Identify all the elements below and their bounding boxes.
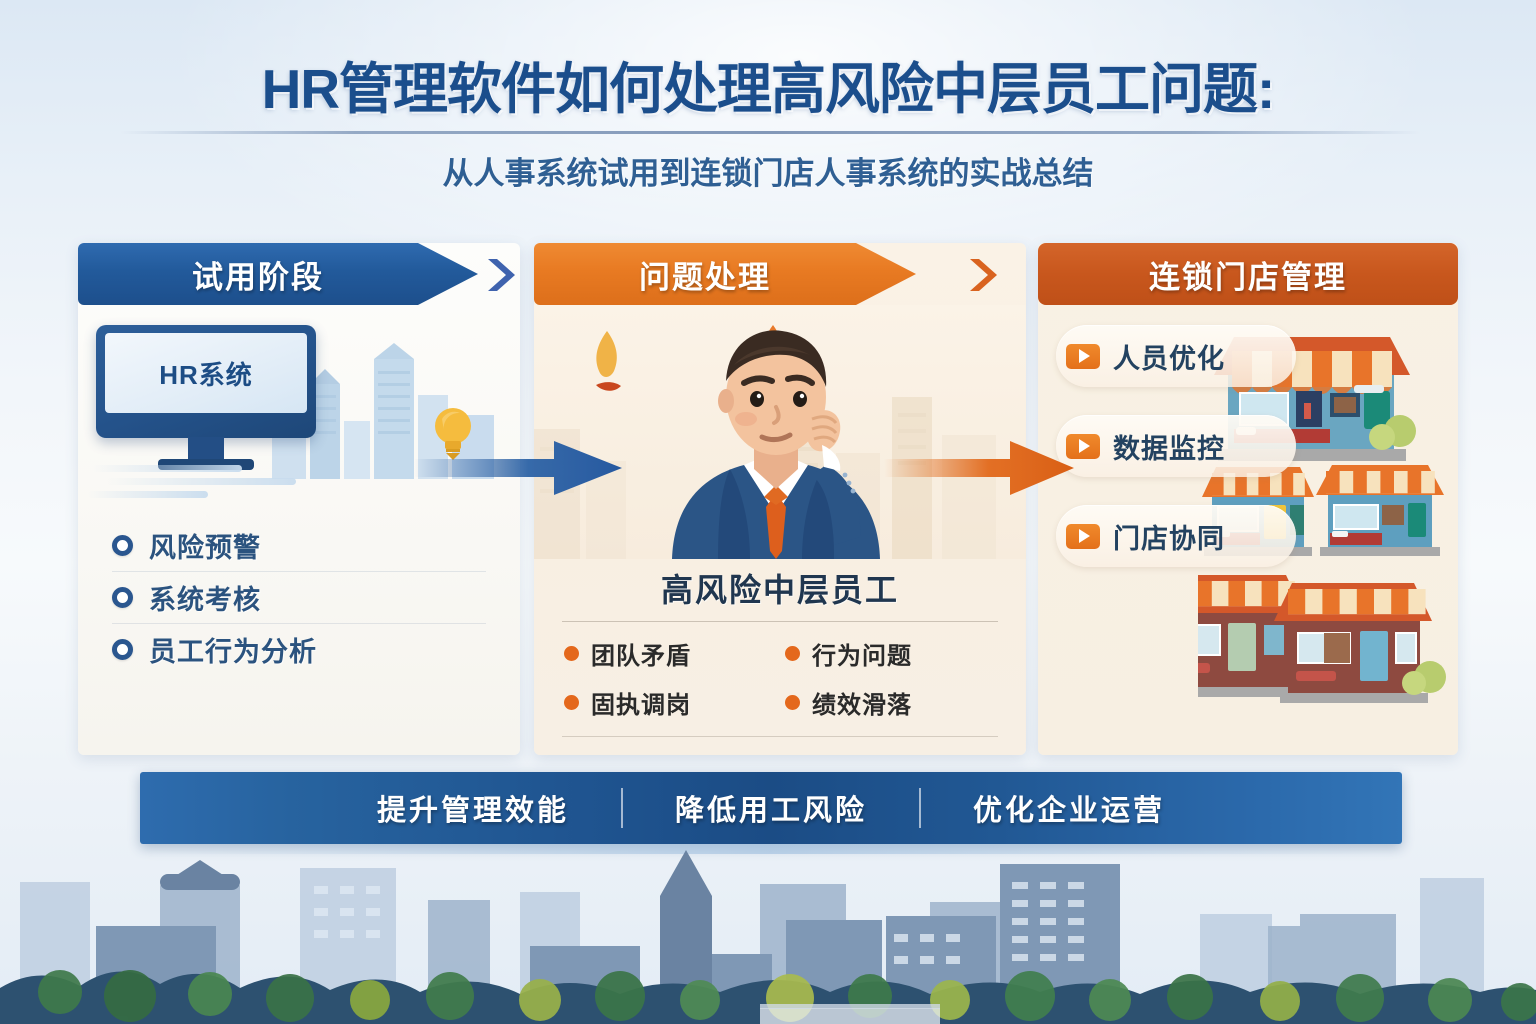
- play-icon: [1066, 344, 1100, 369]
- list-item-label: 团队矛盾: [591, 636, 691, 671]
- bullet-ring-icon: [112, 535, 133, 556]
- panel-3-banner[interactable]: 连锁门店管理: [1038, 243, 1458, 305]
- list-item[interactable]: 数据监控: [1056, 415, 1296, 477]
- play-icon: [1066, 524, 1100, 549]
- panel-2-banner[interactable]: 问题处理: [534, 243, 916, 305]
- bullet-ring-icon: [112, 587, 133, 608]
- panel-2-list: 团队矛盾 行为问题 固执调岗 绩效滑落: [534, 636, 1026, 720]
- monitor-frame: HR系统: [96, 325, 316, 438]
- panel-1-banner-label: 试用阶段: [192, 252, 324, 297]
- list-item-label: 绩效滑落: [812, 685, 912, 720]
- list-item[interactable]: 门店协同: [1056, 505, 1296, 567]
- bullet-dot-icon: [785, 646, 800, 661]
- panel-3-content: 人员优化 数据监控 门店协同: [1038, 305, 1458, 755]
- list-item-label: 风险预警: [149, 526, 261, 565]
- list-item[interactable]: 绩效滑落: [785, 685, 996, 720]
- panel-problem-handling: 高风险中层员工 团队矛盾 行为问题 固执调岗: [534, 243, 1026, 755]
- worried-employee-illustration: [626, 315, 926, 559]
- blue-arrow-right-icon: [414, 437, 624, 499]
- bullet-ring-icon: [112, 639, 133, 660]
- list-item[interactable]: 系统考核: [112, 571, 486, 623]
- cityscape-illustration: [0, 838, 1536, 1024]
- divider: [562, 621, 998, 622]
- panel-1-banner[interactable]: 试用阶段: [78, 243, 478, 305]
- panel-2-body: 高风险中层员工 团队矛盾 行为问题 固执调岗: [534, 243, 1026, 755]
- panel-2-text: 高风险中层员工 团队矛盾 行为问题 固执调岗: [534, 559, 1026, 737]
- panel-1-body: HR系统: [78, 243, 520, 755]
- monitor-screen: HR系统: [105, 333, 307, 413]
- panel-trial-stage: HR系统: [78, 243, 520, 755]
- panel-3-body: 人员优化 数据监控 门店协同: [1038, 243, 1458, 755]
- list-item-label: 固执调岗: [591, 685, 691, 720]
- speed-line: [92, 465, 242, 472]
- footer-item[interactable]: 提升管理效能: [325, 787, 621, 829]
- panel-3-list: 人员优化 数据监控 门店协同: [1056, 325, 1296, 595]
- panel-chain-store-management: 人员优化 数据监控 门店协同: [1038, 243, 1458, 755]
- exclamation-left-icon: [590, 329, 624, 399]
- list-item[interactable]: 员工行为分析: [112, 623, 486, 675]
- footer-bar: 提升管理效能 降低用工风险 优化企业运营: [140, 772, 1402, 844]
- list-item-label: 系统考核: [149, 578, 261, 617]
- bullet-dot-icon: [785, 695, 800, 710]
- panel-2-banner-label: 问题处理: [639, 252, 771, 297]
- footer-item[interactable]: 降低用工风险: [623, 787, 919, 829]
- orange-arrow-right-icon: [884, 437, 1076, 499]
- chevron-right-icon-1: [484, 257, 518, 293]
- list-item-label: 数据监控: [1113, 427, 1225, 466]
- list-item[interactable]: 人员优化: [1056, 325, 1296, 387]
- divider: [562, 736, 998, 737]
- list-item[interactable]: 行为问题: [785, 636, 996, 671]
- panel-2-illustration: [534, 305, 1026, 559]
- list-item-label: 行为问题: [812, 636, 912, 671]
- speed-line: [106, 478, 296, 485]
- panel-1-list: 风险预警 系统考核 员工行为分析: [112, 519, 486, 675]
- list-item-label: 人员优化: [1113, 337, 1225, 376]
- list-item-label: 门店协同: [1113, 517, 1225, 556]
- monitor-label: HR系统: [159, 355, 253, 392]
- page-subtitle: 从人事系统试用到连锁门店人事系统的实战总结: [0, 148, 1536, 193]
- list-item[interactable]: 固执调岗: [564, 685, 775, 720]
- chevron-right-icon-2: [966, 257, 1000, 293]
- hr-monitor-illustration: HR系统: [96, 325, 326, 485]
- bullet-dot-icon: [564, 646, 579, 661]
- panels-row: HR系统: [78, 243, 1458, 755]
- monitor-neck: [188, 437, 224, 461]
- page-title: HR管理软件如何处理高风险中层员工问题:: [0, 44, 1536, 124]
- panel-3-banner-label: 连锁门店管理: [1149, 252, 1347, 297]
- list-item[interactable]: 风险预警: [112, 519, 486, 571]
- footer-item[interactable]: 优化企业运营: [921, 787, 1217, 829]
- header: HR管理软件如何处理高风险中层员工问题:: [0, 44, 1536, 124]
- title-divider: [120, 131, 1420, 134]
- list-item-label: 员工行为分析: [149, 630, 317, 669]
- list-item[interactable]: 团队矛盾: [564, 636, 775, 671]
- footer-cityscape: [0, 838, 1536, 1024]
- bullet-dot-icon: [564, 695, 579, 710]
- speed-line: [88, 491, 208, 498]
- panel-2-heading: 高风险中层员工: [534, 559, 1026, 621]
